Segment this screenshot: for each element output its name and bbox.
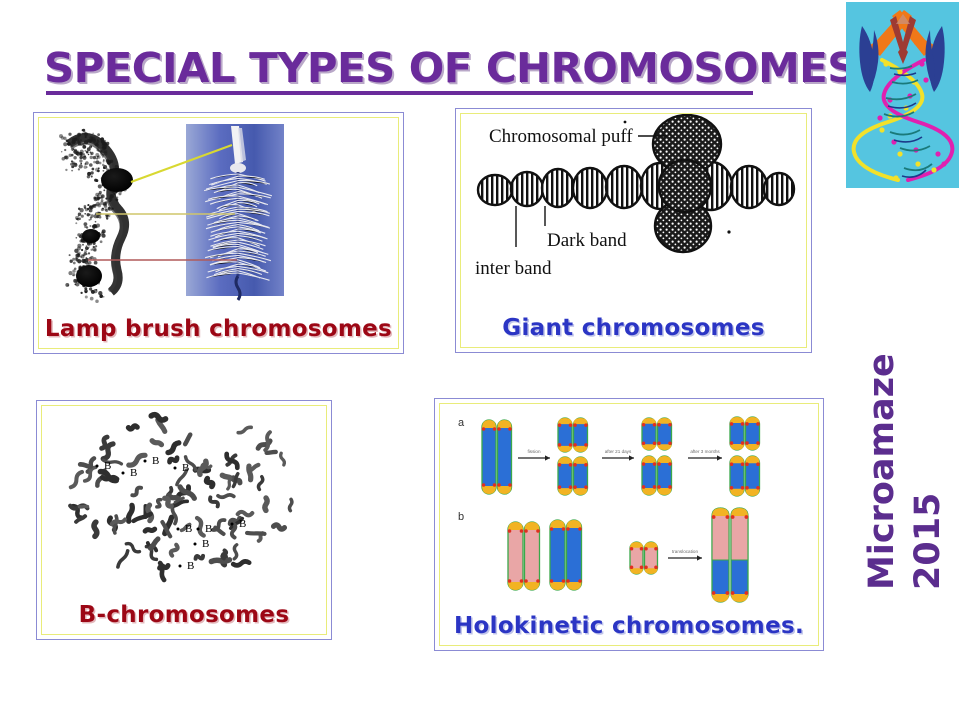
holokinetic-row-label-a: a bbox=[458, 417, 465, 429]
bchromosomes-figure: BBBBBBBBB bbox=[42, 406, 326, 588]
bchromosome-spread: BBBBBBBBB bbox=[42, 406, 327, 592]
holokinetic-arrow-label: translocation bbox=[672, 549, 698, 554]
holokinetic-arrow-label: after 21 days bbox=[605, 449, 632, 454]
svg-text:B: B bbox=[182, 462, 189, 474]
panel-giant[interactable]: Chromosomal puff Dark band inter band Gi… bbox=[455, 108, 812, 353]
giant-label-inter-band: inter band bbox=[475, 258, 552, 279]
svg-text:B: B bbox=[130, 467, 137, 479]
panel-giant-inner: Chromosomal puff Dark band inter band Gi… bbox=[460, 113, 807, 348]
holokinetic-row-label-b: b bbox=[458, 511, 464, 523]
panel-holokinetic-caption: Holokinetic chromosomes. bbox=[440, 613, 818, 639]
title-underline bbox=[46, 91, 753, 95]
slide-canvas: SPECIAL TYPES OF CHROMOSOMES bbox=[0, 0, 960, 720]
panel-holokinetic[interactable]: a b fissionafter 21 daysafter 3 monthstr… bbox=[434, 398, 824, 651]
year-label: 2015 bbox=[908, 493, 948, 590]
svg-text:B: B bbox=[187, 560, 194, 572]
svg-text:B: B bbox=[185, 523, 192, 535]
microamaze-logo bbox=[846, 2, 959, 188]
svg-text:B: B bbox=[152, 455, 159, 467]
giant-label-dark-band: Dark band bbox=[547, 230, 627, 251]
giant-chromosome-diagram: Chromosomal puff Dark band inter band bbox=[461, 114, 807, 305]
holokinetic-arrow-label: after 3 months bbox=[690, 449, 720, 454]
panel-holokinetic-inner: a b fissionafter 21 daysafter 3 monthstr… bbox=[439, 403, 819, 646]
holokinetic-diagram: a b fissionafter 21 daysafter 3 monthstr… bbox=[440, 404, 819, 603]
holokinetic-arrow-label: fission bbox=[527, 449, 540, 454]
svg-text:B: B bbox=[239, 518, 246, 530]
page-title-text: SPECIAL TYPES OF CHROMOSOMES bbox=[44, 46, 789, 90]
lampbrush-figure bbox=[39, 118, 398, 302]
panel-lampbrush-inner: Lamp brush chromosomes bbox=[38, 117, 399, 349]
page-title: SPECIAL TYPES OF CHROMOSOMES bbox=[44, 46, 774, 98]
logo-artwork bbox=[846, 2, 959, 188]
svg-text:B: B bbox=[104, 460, 111, 472]
panel-lampbrush[interactable]: Lamp brush chromosomes bbox=[33, 112, 404, 354]
panel-bchromosomes-caption: B-chromosomes bbox=[42, 602, 326, 628]
lampbrush-diagram bbox=[39, 118, 399, 306]
brand-label: Microamaze bbox=[862, 353, 902, 590]
panel-bchromosomes-inner: BBBBBBBBB B-chromosomes bbox=[41, 405, 327, 635]
holokinetic-figure: a b fissionafter 21 daysafter 3 monthstr… bbox=[440, 404, 818, 599]
giant-label-puff: Chromosomal puff bbox=[489, 126, 633, 147]
svg-text:B: B bbox=[205, 523, 212, 535]
panel-bchromosomes[interactable]: BBBBBBBBB B-chromosomes bbox=[36, 400, 332, 640]
giant-figure: Chromosomal puff Dark band inter band bbox=[461, 114, 806, 301]
panel-lampbrush-caption: Lamp brush chromosomes bbox=[39, 316, 398, 342]
svg-text:B: B bbox=[202, 538, 209, 550]
panel-giant-caption: Giant chromosomes bbox=[461, 315, 806, 341]
